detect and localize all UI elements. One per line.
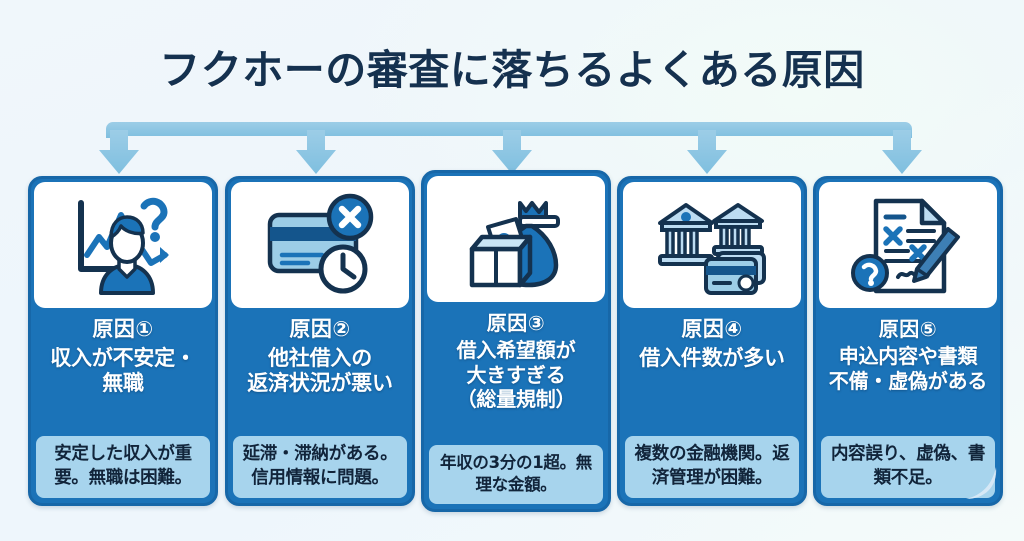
cause-card-5-title: 原因⑤ 申込内容や書類 不備・虚偽がある [816,308,1000,436]
cause-card-5-number: 原因⑤ [879,317,937,341]
cause-card-3-heading-line-1: 借入希望額が [457,338,576,362]
cause-card-5-icon-box [819,182,997,308]
cause-card-4-icon-box [623,182,801,308]
cause-card-3-description: 年収の3分の1超。無理な金額。 [429,445,603,504]
cause-card-3-number: 原因③ [487,311,545,335]
cause-card-5-heading-line-1: 申込内容や書類 [839,344,978,368]
cause-card-4[interactable]: 原因④ 借入件数が多い 複数の金融機関。返済管理が困難。 [617,176,807,506]
money-bag-box-icon [458,187,574,291]
cause-card-1-description: 安定した収入が重要。無職は困難。 [36,436,210,498]
cause-card-1-heading-line-2: 無職 [102,371,144,397]
cause-card-3-title: 原因③ 借入希望額が 大きすぎる （総量規制） [424,302,608,445]
page-title: フクホーの審査に落ちるよくある原因 [0,36,1024,96]
cause-card-4-number: 原因④ [681,317,742,343]
cause-card-3[interactable]: 原因③ 借入希望額が 大きすぎる （総量規制） 年収の3分の1超。無理な金額。 [421,170,611,512]
cause-card-1-icon-box [34,182,212,308]
cause-card-2-icon-box [231,182,409,308]
cause-card-4-description: 複数の金融機関。返済管理が困難。 [625,436,799,498]
cause-card-2-title: 原因② 他社借入の 返済状況が悪い [228,308,412,436]
cause-card-1[interactable]: 原因① 収入が不安定・ 無職 安定した収入が重要。無職は困難。 [28,176,218,506]
cause-card-2-heading-line-1: 他社借入の [268,346,372,372]
cause-card-2-description: 延滞・滞納がある。信用情報に問題。 [233,436,407,498]
cause-card-5-heading-line-2: 不備・虚偽がある [829,369,987,393]
declining-chart-person-question-icon [65,193,181,297]
infographic-canvas: フクホーの審査に落ちるよくある原因 [0,0,1024,541]
cause-card-1-number: 原因① [92,317,153,343]
cause-card-5-description: 内容誤り、虚偽、書類不足。 [821,436,995,498]
cause-card-5[interactable]: 原因⑤ 申込内容や書類 不備・虚偽がある 内容誤り、虚偽、書類不足。 [813,176,1003,506]
document-pen-question-icon [850,193,966,297]
cause-card-4-heading-line-1: 借入件数が多い [639,346,785,372]
cause-card-3-icon-box [427,176,605,302]
cause-card-1-heading-line-1: 収入が不安定・ [50,346,196,372]
bank-buildings-cards-icon [654,193,770,297]
cause-card-2[interactable]: 原因② 他社借入の 返済状況が悪い 延滞・滞納がある。信用情報に問題。 [225,176,415,506]
cause-card-2-number: 原因② [289,317,350,343]
cause-card-3-heading-line-2: 大きすぎる [467,363,566,387]
credit-card-reject-clock-icon [262,193,378,297]
cause-card-1-title: 原因① 収入が不安定・ 無職 [31,308,215,436]
cause-card-2-heading-line-2: 返済状況が悪い [247,371,393,397]
cause-card-3-heading-line-3: （総量規制） [457,387,576,411]
cause-card-4-title: 原因④ 借入件数が多い [620,308,804,436]
